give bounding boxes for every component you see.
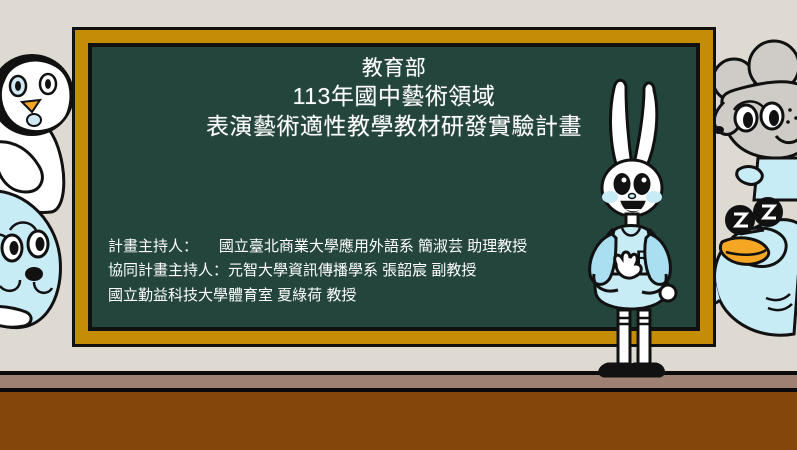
rabbit-mascot-character: R bbox=[568, 78, 688, 378]
floor-surface bbox=[0, 392, 797, 450]
title-card-scene: 教育部 113年國中藝術領域 表演藝術適性教學教材研發實驗計畫 計畫主持人： 國… bbox=[0, 0, 797, 450]
gray-mouse-character bbox=[716, 28, 797, 203]
sunglasses-duck-character bbox=[706, 186, 797, 361]
